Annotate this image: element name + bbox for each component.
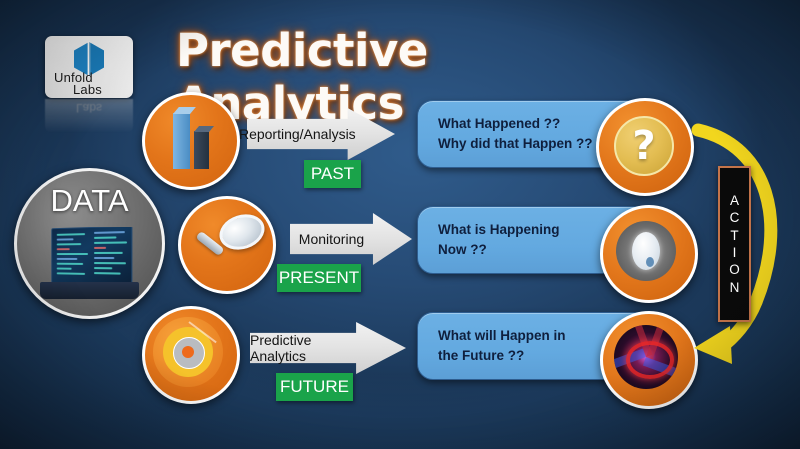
arrow-monitoring[interactable]: Monitoring <box>290 213 412 265</box>
panel-future-text: What will Happen in the Future ?? <box>438 313 566 379</box>
badge-past: PAST <box>304 160 361 188</box>
panel-future-line-1: What will Happen in <box>438 326 566 346</box>
arrow-reporting-analysis[interactable]: Reporting/Analysis <box>247 108 395 160</box>
action-letter-5: N <box>729 279 740 296</box>
logo-reflection: Labs <box>45 99 133 133</box>
logo-wordmark: Unfold Labs <box>45 70 133 98</box>
laptop-code-icon <box>40 227 139 307</box>
arrow-label-monitoring: Monitoring <box>290 213 373 265</box>
data-source-label: DATA <box>17 183 162 219</box>
arrow-label-reporting-analysis: Reporting/Analysis <box>247 108 348 160</box>
action-badge: A C T I O N <box>718 166 751 322</box>
action-letter-1: C <box>729 209 740 226</box>
panel-past-text: What Happened ?? Why did that Happen ?? <box>438 101 593 167</box>
question-mark-icon: ? <box>596 98 694 196</box>
action-letter-3: I <box>729 244 740 261</box>
badge-present: PRESENT <box>277 264 361 292</box>
magnifying-glass-icon <box>178 196 276 294</box>
arrow-label-predictive-analytics: Predictive Analytics <box>250 322 356 374</box>
logo-reflection-text: Labs <box>45 101 133 115</box>
unfoldlabs-logo: Unfold Labs <box>45 36 133 98</box>
action-letter-2: T <box>729 227 740 244</box>
panel-past-line-1: What Happened ?? <box>438 114 593 134</box>
arrow-predictive-analytics[interactable]: Predictive Analytics <box>250 322 406 374</box>
panel-present-line-1: What is Happening <box>438 220 560 240</box>
panel-future-line-2: the Future ?? <box>438 346 566 366</box>
infographic-canvas: Unfold Labs Labs Predictive Analytics DA… <box>0 0 800 449</box>
target-bullseye-icon <box>142 306 240 404</box>
panel-past-line-2: Why did that Happen ?? <box>438 134 593 154</box>
action-letter-0: A <box>729 192 740 209</box>
action-label: A C T I O N <box>729 192 740 296</box>
logo-line-two: Labs <box>73 82 102 97</box>
action-letter-4: O <box>729 261 740 278</box>
page-title: Predictive Analytics <box>176 24 646 84</box>
bar-chart-icon <box>142 92 240 190</box>
panel-present-line-2: Now ?? <box>438 240 560 260</box>
crystal-ball-icon <box>600 205 698 303</box>
panel-present-text: What is Happening Now ?? <box>438 207 560 273</box>
data-source-circle: DATA <box>14 168 165 319</box>
question-mark-glyph: ? <box>632 126 655 166</box>
badge-future: FUTURE <box>276 373 353 401</box>
future-tunnel-icon <box>600 311 698 409</box>
